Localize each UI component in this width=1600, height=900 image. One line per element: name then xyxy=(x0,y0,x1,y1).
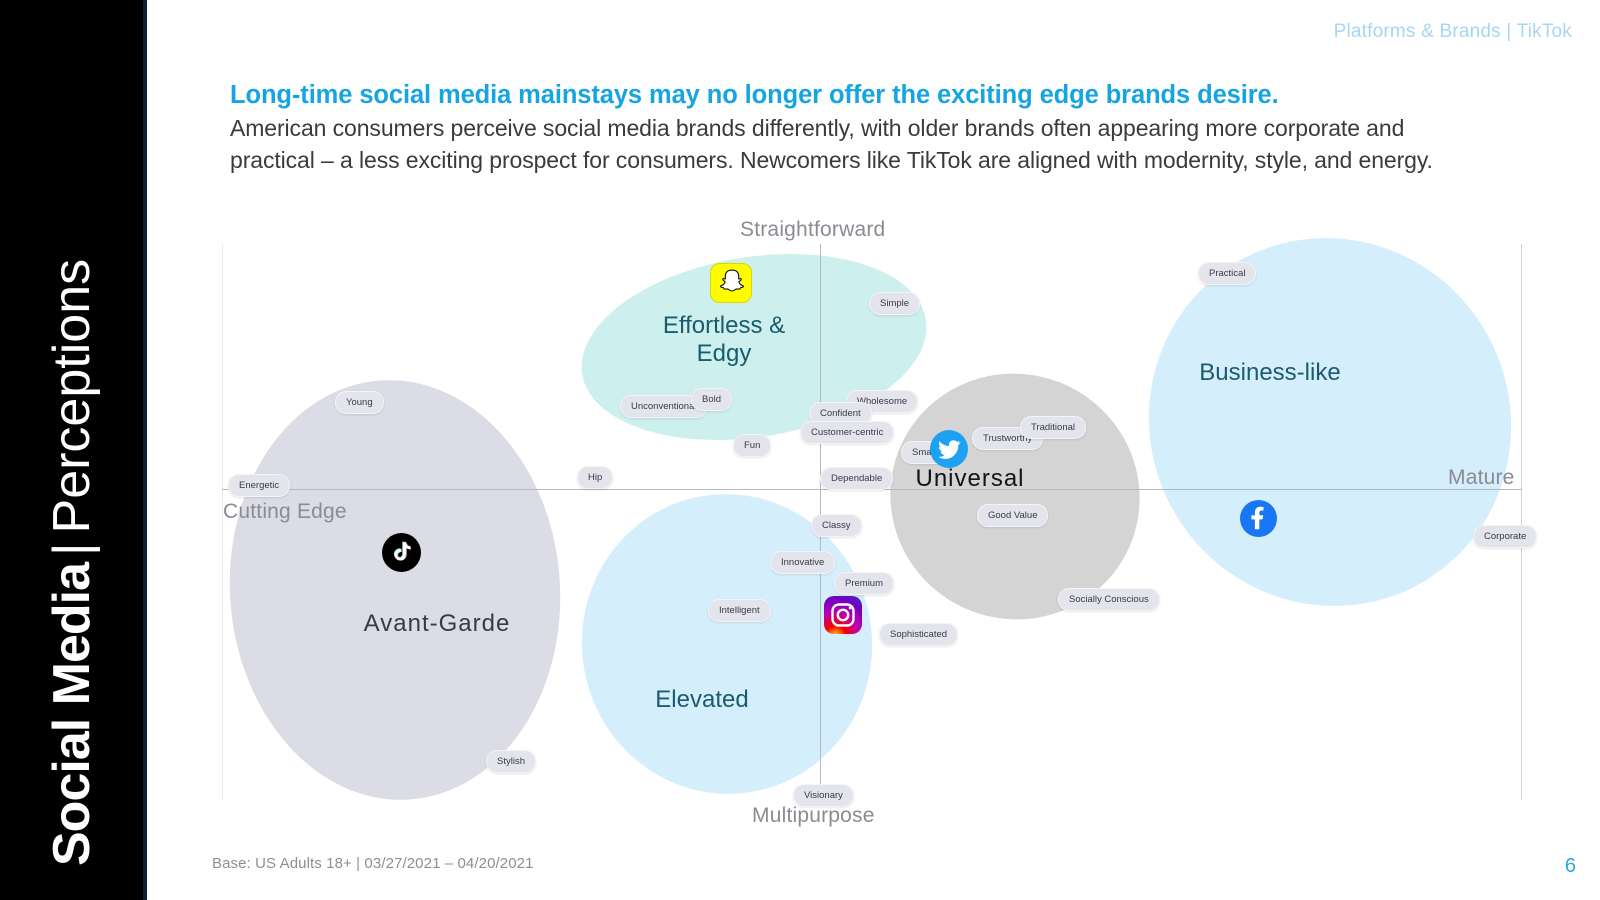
attribute-pill-intelligent: Intelligent xyxy=(708,599,771,622)
attribute-pill-innovative: Innovative xyxy=(770,551,835,574)
snapchat-icon[interactable] xyxy=(710,263,752,303)
attribute-pill-fun: Fun xyxy=(733,434,771,457)
attribute-pill-corporate: Corporate xyxy=(1473,525,1537,548)
sidebar: Social Media | Perceptions xyxy=(0,0,147,900)
axis-label-bottom: Multipurpose xyxy=(752,804,875,828)
attribute-pill-practical: Practical xyxy=(1198,262,1256,285)
headline-block: Long-time social media mainstays may no … xyxy=(230,79,1500,177)
attribute-pill-premium: Premium xyxy=(834,572,894,595)
attribute-pill-bold: Bold xyxy=(691,388,732,411)
cluster-label-avant-garde: Avant-Garde xyxy=(342,610,532,638)
sidebar-title-light: Perceptions xyxy=(46,259,98,534)
attribute-pill-simple: Simple xyxy=(869,292,920,315)
axis-label-top: Straightforward xyxy=(740,218,885,242)
sidebar-title-separator: | xyxy=(46,542,98,556)
attribute-pill-energetic: Energetic xyxy=(228,474,290,497)
attribute-pill-sophisticated: Sophisticated xyxy=(879,623,958,646)
cluster-label-effortless-edgy-line2: Edgy xyxy=(697,340,752,367)
attribute-pill-hip: Hip xyxy=(577,466,613,489)
attribute-pill-stylish: Stylish xyxy=(486,750,536,773)
page-number: 6 xyxy=(1565,855,1576,878)
attribute-pill-visionary: Visionary xyxy=(793,784,854,807)
axis-label-left: Cutting Edge xyxy=(223,500,347,524)
facebook-icon[interactable] xyxy=(1240,500,1277,537)
axis-label-right: Mature xyxy=(1448,466,1515,490)
instagram-icon[interactable] xyxy=(824,596,862,634)
attribute-pill-young: Young xyxy=(335,391,384,414)
twitter-icon[interactable] xyxy=(930,430,968,468)
attribute-pill-good-value: Good Value xyxy=(977,504,1048,527)
attribute-pill-customer-centric: Customer-centric xyxy=(800,421,894,444)
attribute-pill-dependable: Dependable xyxy=(820,467,893,490)
breadcrumb: Platforms & Brands | TikTok xyxy=(1334,21,1572,43)
sidebar-title: Social Media | Perceptions xyxy=(0,0,143,900)
cluster-label-business-like: Business-like xyxy=(1170,359,1370,387)
sidebar-title-strong: Social Media xyxy=(46,563,98,866)
footnote: Base: US Adults 18+ | 03/27/2021 – 04/20… xyxy=(212,855,534,872)
page-subtitle: American consumers perceive social media… xyxy=(230,113,1482,177)
cluster-label-effortless-edgy: Effortless & Edgy xyxy=(654,312,794,369)
page-title: Long-time social media mainstays may no … xyxy=(230,79,1500,112)
attribute-pill-socially-conscious: Socially Conscious xyxy=(1058,588,1160,611)
cluster-label-elevated: Elevated xyxy=(622,686,782,714)
attribute-pill-classy: Classy xyxy=(811,514,862,537)
cluster-label-universal: Universal xyxy=(890,465,1050,493)
tiktok-icon[interactable] xyxy=(382,533,421,572)
cluster-label-effortless-edgy-line1: Effortless & xyxy=(663,312,785,339)
perception-map: Straightforward Multipurpose Cutting Edg… xyxy=(222,244,1522,800)
attribute-pill-traditional: Traditional xyxy=(1020,416,1086,439)
